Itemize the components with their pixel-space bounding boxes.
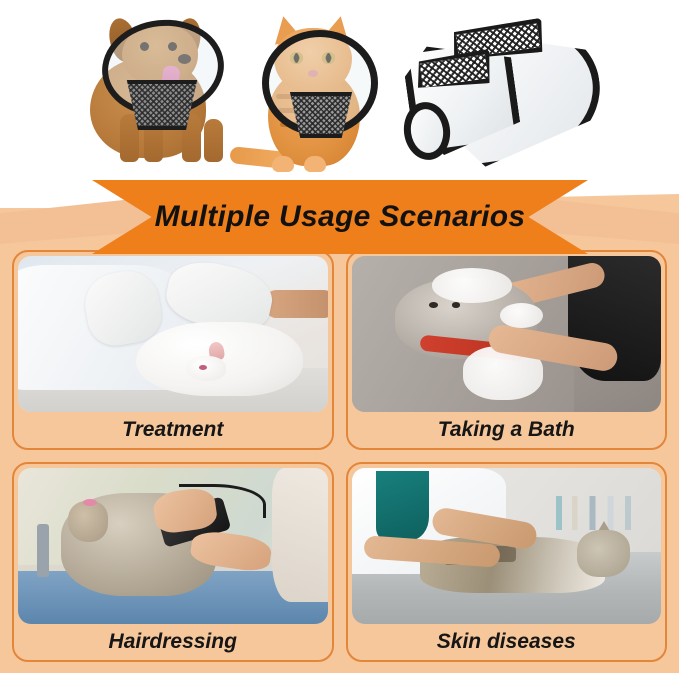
table-stand xyxy=(37,524,49,577)
infographic-page: Multiple Usage Scenarios Treatment xyxy=(0,0,679,673)
scenario-grid: Treatment Taking a Bath xyxy=(12,250,667,662)
white-rabbit xyxy=(136,322,303,397)
scenario-label-hairdressing: Hairdressing xyxy=(14,624,332,660)
section-banner: Multiple Usage Scenarios xyxy=(0,178,679,256)
scenario-photo-cat-being-washed xyxy=(352,256,662,412)
dog-leg xyxy=(204,119,223,162)
cat-head xyxy=(577,530,630,577)
scenario-photo-vet-examining-tabby-cat xyxy=(352,468,662,624)
scenario-photo-vet-examining-white-rabbit xyxy=(18,256,328,412)
scenario-label-skin-diseases: Skin diseases xyxy=(348,624,666,660)
cat-paw xyxy=(304,156,326,172)
hero-image-cone-collar-product xyxy=(400,10,610,174)
dog-head xyxy=(68,501,108,542)
scenario-photo-yorkshire-terrier-grooming xyxy=(18,468,328,624)
cat-eye xyxy=(429,302,438,308)
cat-paw xyxy=(272,156,294,172)
scenario-card-treatment[interactable]: Treatment xyxy=(12,250,334,450)
banner-title: Multiple Usage Scenarios xyxy=(92,180,588,254)
vet-forearm xyxy=(266,290,328,318)
shampoo-foam xyxy=(500,303,543,328)
scenario-label-taking-a-bath: Taking a Bath xyxy=(348,412,666,448)
teal-scrub-top xyxy=(376,471,429,540)
hero-image-dog-with-cone xyxy=(66,6,256,174)
groomer-body xyxy=(272,468,328,602)
scenario-card-hairdressing[interactable]: Hairdressing xyxy=(12,462,334,662)
scenario-card-taking-a-bath[interactable]: Taking a Bath xyxy=(346,250,668,450)
scenario-label-treatment: Treatment xyxy=(14,412,332,448)
shampoo-foam xyxy=(432,268,512,302)
hero-image-cat-with-cone xyxy=(232,8,402,172)
cat-eye xyxy=(452,302,461,308)
scenario-card-skin-diseases[interactable]: Skin diseases xyxy=(346,462,668,662)
